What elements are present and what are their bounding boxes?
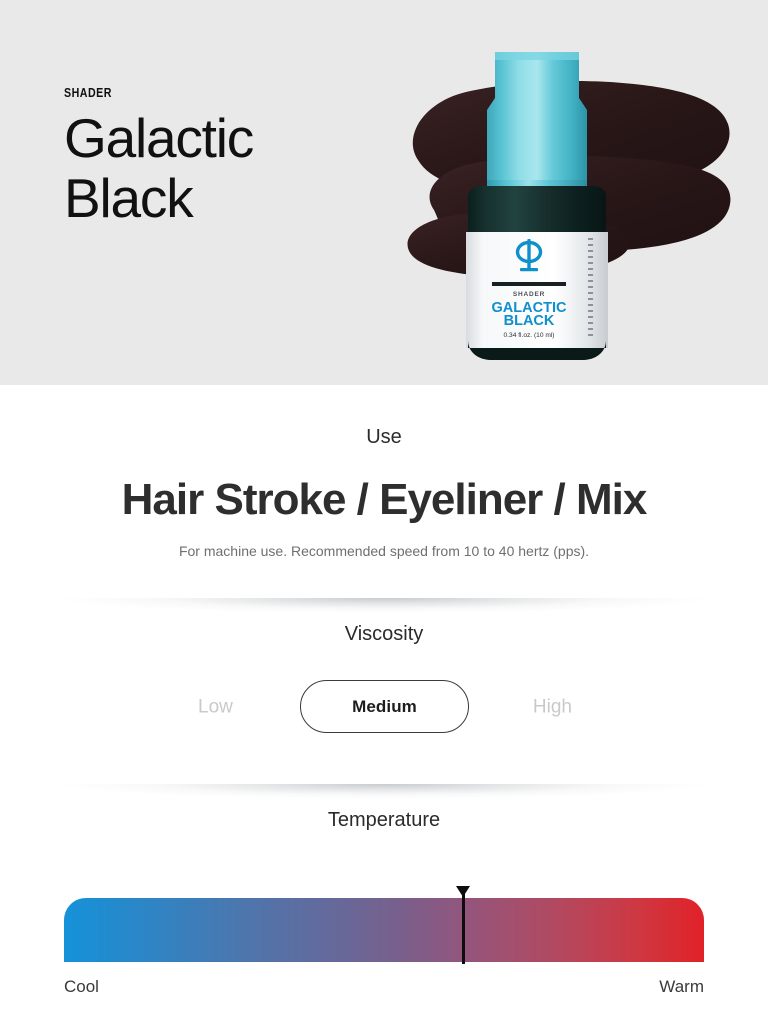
section-divider-1	[54, 598, 714, 624]
temperature-section: Temperature Cool Warm	[0, 810, 768, 950]
viscosity-option-low[interactable]: Low	[198, 698, 233, 717]
product-image: SHADER GALACTIC BLACK 0.34 fl.oz. (10 ml…	[382, 40, 742, 370]
hero-text-block: SHADER Galactic Black	[64, 86, 394, 228]
viscosity-section: Viscosity Low Medium High	[0, 624, 768, 734]
product-title-line-2: Black	[64, 167, 193, 229]
use-heading: Hair Stroke / Eyeliner / Mix	[0, 477, 768, 523]
label-volume: 0.34 fl.oz. (10 ml)	[504, 332, 555, 339]
product-category-label: SHADER	[64, 86, 335, 100]
temperature-marker-icon	[462, 886, 465, 964]
bottle-cap	[487, 52, 587, 192]
bottle-label: SHADER GALACTIC BLACK 0.34 fl.oz. (10 ml…	[466, 232, 608, 348]
product-spec-card: SHADER Galactic Black	[0, 0, 768, 1024]
viscosity-option-high[interactable]: High	[533, 698, 572, 717]
temperature-section-label: Temperature	[0, 810, 768, 830]
viscosity-section-label: Viscosity	[0, 624, 768, 644]
temperature-gradient-bar	[64, 898, 704, 962]
use-subtext: For machine use. Recommended speed from …	[0, 542, 768, 560]
hero-section: SHADER Galactic Black	[0, 0, 768, 385]
label-name-line-2: BLACK	[504, 313, 555, 329]
temperature-warm-label: Warm	[659, 978, 704, 995]
temperature-cool-label: Cool	[64, 978, 99, 995]
product-title-line-1: Galactic	[64, 107, 253, 169]
use-section: Use Hair Stroke / Eyeliner / Mix For mac…	[0, 385, 768, 560]
section-divider-2	[54, 784, 714, 810]
page-title: Galactic Black	[64, 109, 394, 228]
label-category: SHADER	[513, 291, 545, 298]
viscosity-option-medium-selected[interactable]: Medium	[300, 680, 469, 733]
use-section-label: Use	[0, 427, 768, 447]
temperature-scale: Cool Warm	[0, 870, 768, 950]
viscosity-options: Low Medium High	[0, 680, 768, 734]
bottle-illustration: SHADER GALACTIC BLACK 0.34 fl.oz. (10 ml…	[382, 40, 742, 370]
temperature-end-labels: Cool Warm	[64, 978, 704, 995]
